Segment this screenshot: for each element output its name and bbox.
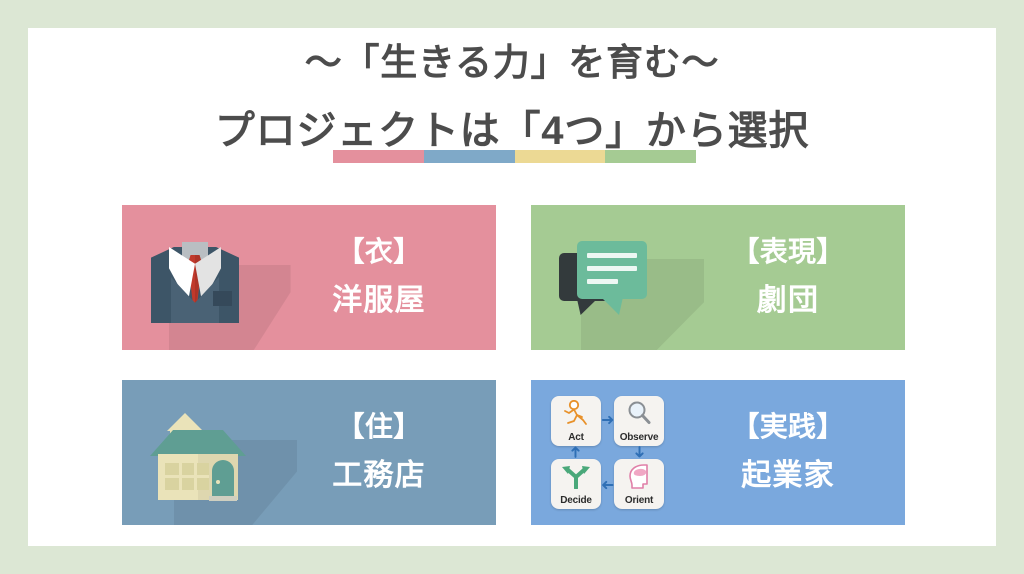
ooda-arrow-orient-to-decide: ➜ <box>601 476 614 492</box>
project-card-housing-label: 【住】 <box>270 409 488 445</box>
brain-head-icon <box>614 463 664 489</box>
magnifying-glass-icon <box>614 400 664 426</box>
ooda-tile-orient: Orient <box>614 459 664 509</box>
colorbar-segment-pink <box>333 150 424 163</box>
title-line-2: プロジェクトは「4つ」から選択 <box>28 107 996 155</box>
ooda-caption-orient: Orient <box>614 495 664 506</box>
project-card-clothing-label: 【衣】 <box>270 234 488 270</box>
title-line-1: 〜「生きる力」を育む〜 <box>28 41 996 85</box>
suit-jacket-icon <box>122 205 270 350</box>
ooda-arrow-act-to-observe: ➜ <box>601 413 614 429</box>
ooda-tile-decide: Decide <box>551 459 601 509</box>
project-card-clothing-name: 洋服屋 <box>270 282 488 320</box>
project-card-clothing-text: 【衣】 洋服屋 <box>270 234 496 322</box>
ooda-caption-decide: Decide <box>551 495 601 506</box>
ooda-caption-observe: Observe <box>614 432 664 443</box>
title-colorbar <box>333 150 696 163</box>
project-card-grid: 【衣】 洋服屋 <box>122 205 905 525</box>
ooda-tile-observe: Observe <box>614 396 664 446</box>
project-card-practice-name: 起業家 <box>679 457 897 495</box>
ooda-loop-icon: Act Observe <box>531 380 679 525</box>
slide-frame: 〜「生きる力」を育む〜 プロジェクトは「4つ」から選択 <box>0 0 1024 574</box>
title-block: 〜「生きる力」を育む〜 プロジェクトは「4つ」から選択 <box>28 28 996 155</box>
project-card-clothing[interactable]: 【衣】 洋服屋 <box>122 205 496 350</box>
ooda-tile-act: Act <box>551 396 601 446</box>
project-card-housing-name: 工務店 <box>270 457 488 495</box>
project-card-expression-name: 劇団 <box>679 282 897 320</box>
slide-page: 〜「生きる力」を育む〜 プロジェクトは「4つ」から選択 <box>28 28 996 546</box>
ooda-arrow-decide-to-act: ➜ <box>569 445 585 458</box>
colorbar-segment-yellow <box>515 150 606 163</box>
ooda-caption-act: Act <box>551 432 601 443</box>
speech-bubbles-icon <box>531 205 679 350</box>
project-card-housing-text: 【住】 工務店 <box>270 409 496 497</box>
project-card-practice-text: 【実践】 起業家 <box>679 409 905 497</box>
colorbar-segment-green <box>605 150 696 163</box>
project-card-expression-text: 【表現】 劇団 <box>679 234 905 322</box>
fork-arrow-icon <box>551 463 601 489</box>
project-card-practice[interactable]: Act Observe <box>531 380 905 525</box>
project-card-housing[interactable]: 【住】 工務店 <box>122 380 496 525</box>
colorbar-segment-blue <box>424 150 515 163</box>
house-icon <box>122 380 270 525</box>
ooda-arrow-observe-to-orient: ➜ <box>631 445 647 458</box>
project-card-practice-label: 【実践】 <box>679 409 897 445</box>
project-card-expression-label: 【表現】 <box>679 234 897 270</box>
running-person-icon <box>551 400 601 426</box>
project-card-expression[interactable]: 【表現】 劇団 <box>531 205 905 350</box>
